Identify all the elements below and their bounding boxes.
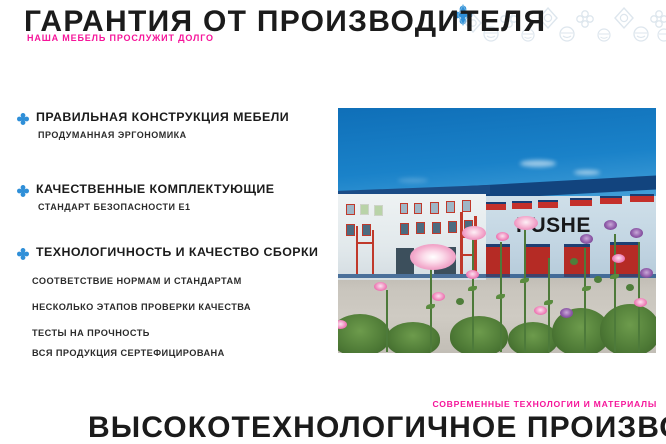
photo-window-band — [512, 201, 532, 209]
photo-building-base — [338, 274, 656, 278]
photo-window — [346, 204, 355, 215]
photo-window-band — [486, 202, 506, 210]
photo-cloud — [520, 160, 556, 167]
clover-bullet-icon — [16, 184, 30, 198]
photo-door — [484, 244, 510, 277]
photo-flower-small — [432, 292, 445, 301]
ornament-clover-icon — [574, 8, 596, 30]
photo-flower-stem — [524, 228, 526, 352]
photo-window — [430, 202, 439, 214]
factory-photo: PUSHE — [338, 108, 656, 353]
photo-window — [346, 224, 355, 236]
photo-flower-stem — [548, 258, 550, 352]
photo-flower-purple — [640, 268, 653, 278]
photo-stair-step — [356, 242, 374, 244]
photo-flower-bud — [570, 258, 578, 265]
sublist-item: СООТВЕТСТВИЕ НОРМАМ И СТАНДАРТАМ — [32, 275, 352, 287]
ornament-diamond-icon — [612, 6, 636, 30]
photo-flower — [462, 226, 486, 240]
clover-bullet-icon — [16, 247, 30, 261]
photo-flower-purple — [604, 220, 617, 230]
sublist-item: ТЕСТЫ НА ПРОЧНОСТЬ — [32, 327, 352, 339]
sublist-item: ВСЯ ПРОДУКЦИЯ СЕРТЕФИЦИРОВАНА — [32, 347, 352, 359]
photo-flower-small — [534, 306, 547, 315]
photo-flower — [514, 216, 538, 230]
list-item: ПРАВИЛЬНАЯ КОНСТРУКЦИЯ МЕБЕЛИ ПРОДУМАННА… — [14, 110, 344, 141]
photo-stair-rail — [460, 212, 463, 274]
photo-flower-stem — [638, 242, 640, 352]
photo-window — [446, 201, 455, 213]
photo-cloud — [574, 170, 600, 175]
photo-flower-small — [374, 282, 387, 291]
photo-window-band — [570, 198, 592, 206]
photo-flower-large — [410, 244, 456, 270]
quality-sublist: СООТВЕТСТВИЕ НОРМАМ И СТАНДАРТАМ НЕСКОЛЬ… — [32, 275, 352, 367]
photo-flower-stem — [472, 236, 474, 352]
photo-flower-small — [496, 232, 509, 241]
page-subtitle: НАША МЕБЕЛЬ ПРОСЛУЖИТ ДОЛГО — [27, 33, 214, 44]
photo-flower-stem — [584, 248, 586, 352]
list-item: ТЕХНОЛОГИЧНОСТЬ И КАЧЕСТВО СБОРКИ — [14, 245, 354, 260]
photo-window — [462, 200, 471, 212]
photo-flower-bud — [594, 276, 602, 283]
photo-flower-stem — [614, 234, 616, 352]
ornament-circle-icon — [558, 25, 576, 43]
ornament-circle-icon — [632, 25, 650, 43]
photo-cloud — [398, 178, 428, 183]
slide-canvas: ГАРАНТИЯ ОТ ПРОИЗВОДИТЕЛЯ НАША МЕБЕЛЬ ПР… — [0, 0, 666, 444]
photo-flower-small — [466, 270, 479, 279]
photo-window — [416, 222, 425, 234]
photo-flower-purple — [630, 228, 643, 238]
photo-window-band — [630, 194, 654, 202]
photo-stair-rail — [356, 226, 358, 274]
list-item: КАЧЕСТВЕННЫЕ КОМПЛЕКТУЮЩИЕ СТАНДАРТ БЕЗО… — [14, 182, 344, 213]
footer-title: ВЫСОКОТЕХНОЛОГИЧНОЕ ПРОИЗВОДСТВО — [88, 412, 666, 444]
ornament-clover-icon — [648, 8, 666, 30]
list-item-subtext: ПРОДУМАННАЯ ЭРГОНОМИКА — [38, 129, 344, 141]
photo-stair-rail — [474, 216, 477, 274]
sublist-item: НЕСКОЛЬКО ЭТАПОВ ПРОВЕРКИ КАЧЕСТВА — [32, 301, 352, 313]
photo-window-band — [538, 200, 558, 208]
photo-flower-purple — [560, 308, 573, 318]
photo-window — [400, 223, 409, 235]
photo-foliage — [508, 322, 558, 353]
photo-stair-rail — [372, 230, 374, 274]
photo-window — [374, 205, 383, 216]
photo-window — [448, 221, 457, 233]
photo-flower-purple — [580, 234, 593, 244]
photo-window — [360, 204, 369, 215]
ornament-circle-icon — [656, 27, 666, 43]
clover-bullet-icon — [16, 112, 30, 126]
footer-subtitle: СОВРЕМЕННЫЕ ТЕХНОЛОГИИ И МАТЕРИАЛЫ — [432, 399, 657, 409]
photo-window — [414, 203, 422, 214]
photo-flower-small — [634, 298, 647, 307]
photo-window — [432, 222, 441, 234]
photo-door — [524, 244, 550, 277]
photo-flower-stem — [386, 290, 388, 352]
ornament-circle-icon — [596, 27, 612, 43]
photo-window-band — [600, 196, 622, 204]
list-item-heading: ТЕХНОЛОГИЧНОСТЬ И КАЧЕСТВО СБОРКИ — [36, 245, 354, 260]
photo-flower-bud — [456, 298, 464, 305]
photo-flower-bud — [626, 284, 634, 291]
list-item-subtext: СТАНДАРТ БЕЗОПАСНОСТИ Е1 — [38, 201, 344, 213]
list-item-heading: ПРАВИЛЬНАЯ КОНСТРУКЦИЯ МЕБЕЛИ — [36, 110, 344, 125]
list-item-heading: КАЧЕСТВЕННЫЕ КОМПЛЕКТУЮЩИЕ — [36, 182, 344, 197]
photo-foliage — [600, 304, 656, 353]
photo-flower-small — [612, 254, 625, 263]
photo-window — [362, 224, 371, 236]
photo-window — [400, 203, 408, 214]
